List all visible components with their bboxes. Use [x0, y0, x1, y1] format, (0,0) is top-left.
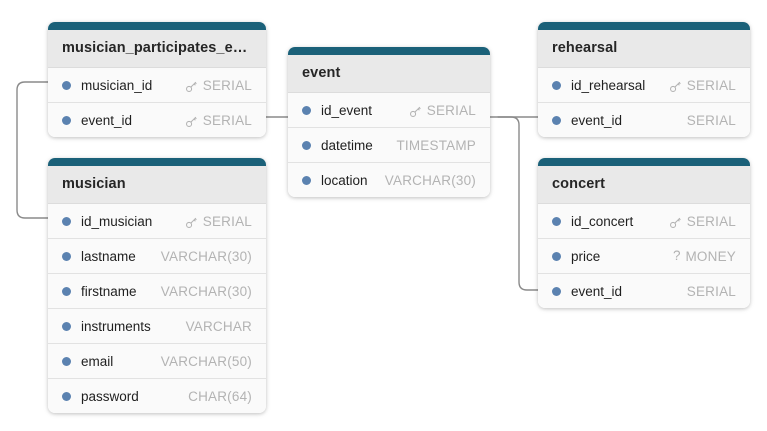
- attribute-bullet-icon: [302, 141, 311, 150]
- attribute-type: VARCHAR(30): [385, 173, 476, 188]
- attribute-list: musician_id SERIAL: [48, 67, 266, 137]
- attribute-type: VARCHAR(50): [161, 354, 252, 369]
- attribute-meta: CHAR(64): [188, 389, 252, 404]
- attribute-bullet-icon: [552, 116, 561, 125]
- entity-title: event: [288, 55, 490, 92]
- nullable-icon: ?: [673, 249, 681, 263]
- attribute-bullet-icon: [552, 287, 561, 296]
- key-icon: [409, 105, 422, 118]
- attribute-row[interactable]: event_id SERIAL: [538, 102, 750, 137]
- attribute-row[interactable]: lastname VARCHAR(30): [48, 238, 266, 273]
- attribute-meta: SERIAL: [185, 214, 252, 229]
- attribute-name: datetime: [321, 138, 373, 153]
- attribute-name: event_id: [81, 113, 132, 128]
- attribute-meta: VARCHAR(30): [161, 284, 252, 299]
- attribute-bullet-icon: [62, 81, 71, 90]
- entity-accent-bar: [538, 158, 750, 166]
- key-icon: [669, 216, 682, 229]
- attribute-type: SERIAL: [427, 103, 476, 118]
- attribute-type: VARCHAR(30): [161, 284, 252, 299]
- attribute-type: MONEY: [685, 249, 736, 264]
- attribute-meta: SERIAL: [185, 78, 252, 93]
- attribute-row[interactable]: instruments VARCHAR: [48, 308, 266, 343]
- attribute-type: SERIAL: [687, 78, 736, 93]
- entity-title: rehearsal: [538, 30, 750, 67]
- attribute-name: location: [321, 173, 368, 188]
- attribute-meta: SERIAL: [669, 78, 736, 93]
- attribute-name: musician_id: [81, 78, 152, 93]
- attribute-bullet-icon: [552, 217, 561, 226]
- attribute-bullet-icon: [552, 252, 561, 261]
- attribute-name: event_id: [571, 113, 622, 128]
- entity-accent-bar: [288, 47, 490, 55]
- attribute-meta: VARCHAR: [186, 319, 252, 334]
- edge-event-concert: [498, 117, 538, 290]
- attribute-type: SERIAL: [687, 113, 736, 128]
- attribute-name: event_id: [571, 284, 622, 299]
- attribute-row[interactable]: musician_id SERIAL: [48, 67, 266, 102]
- attribute-bullet-icon: [62, 322, 71, 331]
- attribute-row[interactable]: firstname VARCHAR(30): [48, 273, 266, 308]
- attribute-name: email: [81, 354, 113, 369]
- attribute-meta: VARCHAR(30): [161, 249, 252, 264]
- attribute-meta: SERIAL: [687, 113, 736, 128]
- attribute-row[interactable]: id_event SERIAL: [288, 92, 490, 127]
- attribute-row[interactable]: datetime TIMESTAMP: [288, 127, 490, 162]
- entity-title: musician_participates_e…: [48, 30, 266, 67]
- attribute-row[interactable]: price ? MONEY: [538, 238, 750, 273]
- entity-accent-bar: [538, 22, 750, 30]
- attribute-bullet-icon: [552, 81, 561, 90]
- er-diagram-canvas[interactable]: musician_participates_e… musician_id: [0, 0, 767, 431]
- attribute-row[interactable]: id_musician SERIAL: [48, 203, 266, 238]
- entity-event[interactable]: event id_event: [288, 47, 490, 197]
- attribute-type: SERIAL: [203, 214, 252, 229]
- entity-musician-participates-event[interactable]: musician_participates_e… musician_id: [48, 22, 266, 137]
- attribute-type: SERIAL: [687, 214, 736, 229]
- attribute-type: SERIAL: [687, 284, 736, 299]
- entity-title: musician: [48, 166, 266, 203]
- attribute-type: VARCHAR: [186, 319, 252, 334]
- attribute-list: id_event SERIAL: [288, 92, 490, 197]
- attribute-list: id_musician SERIAL: [48, 203, 266, 413]
- attribute-meta: TIMESTAMP: [396, 138, 476, 153]
- attribute-name: firstname: [81, 284, 137, 299]
- attribute-row[interactable]: event_id SERIAL: [48, 102, 266, 137]
- attribute-meta: VARCHAR(50): [161, 354, 252, 369]
- key-icon: [185, 115, 198, 128]
- attribute-name: id_concert: [571, 214, 633, 229]
- attribute-type: VARCHAR(30): [161, 249, 252, 264]
- attribute-bullet-icon: [62, 357, 71, 366]
- entity-title: concert: [538, 166, 750, 203]
- entity-accent-bar: [48, 22, 266, 30]
- key-icon: [669, 80, 682, 93]
- attribute-bullet-icon: [62, 116, 71, 125]
- attribute-meta: SERIAL: [687, 284, 736, 299]
- attribute-name: price: [571, 249, 600, 264]
- attribute-name: id_rehearsal: [571, 78, 645, 93]
- attribute-list: id_rehearsal SERIAL: [538, 67, 750, 137]
- attribute-bullet-icon: [302, 106, 311, 115]
- attribute-list: id_concert SERIAL: [538, 203, 750, 308]
- edge-mpe-musician: [17, 82, 48, 218]
- attribute-name: lastname: [81, 249, 136, 264]
- attribute-meta: ? MONEY: [673, 249, 736, 264]
- entity-rehearsal[interactable]: rehearsal id_rehearsal: [538, 22, 750, 137]
- key-icon: [185, 216, 198, 229]
- attribute-row[interactable]: password CHAR(64): [48, 378, 266, 413]
- attribute-meta: SERIAL: [669, 214, 736, 229]
- attribute-meta: VARCHAR(30): [385, 173, 476, 188]
- attribute-bullet-icon: [62, 287, 71, 296]
- attribute-row[interactable]: email VARCHAR(50): [48, 343, 266, 378]
- attribute-row[interactable]: id_rehearsal SERIAL: [538, 67, 750, 102]
- attribute-row[interactable]: location VARCHAR(30): [288, 162, 490, 197]
- attribute-type: TIMESTAMP: [396, 138, 476, 153]
- attribute-bullet-icon: [62, 217, 71, 226]
- attribute-bullet-icon: [62, 392, 71, 401]
- attribute-meta: SERIAL: [409, 103, 476, 118]
- attribute-type: CHAR(64): [188, 389, 252, 404]
- attribute-row[interactable]: id_concert SERIAL: [538, 203, 750, 238]
- attribute-bullet-icon: [62, 252, 71, 261]
- entity-musician[interactable]: musician id_musician: [48, 158, 266, 413]
- attribute-name: id_event: [321, 103, 372, 118]
- attribute-name: instruments: [81, 319, 151, 334]
- attribute-bullet-icon: [302, 176, 311, 185]
- attribute-meta: SERIAL: [185, 113, 252, 128]
- entity-concert[interactable]: concert id_concert: [538, 158, 750, 308]
- entity-accent-bar: [48, 158, 266, 166]
- attribute-row[interactable]: event_id SERIAL: [538, 273, 750, 308]
- attribute-type: SERIAL: [203, 78, 252, 93]
- key-icon: [185, 80, 198, 93]
- attribute-name: id_musician: [81, 214, 152, 229]
- attribute-name: password: [81, 389, 139, 404]
- attribute-type: SERIAL: [203, 113, 252, 128]
